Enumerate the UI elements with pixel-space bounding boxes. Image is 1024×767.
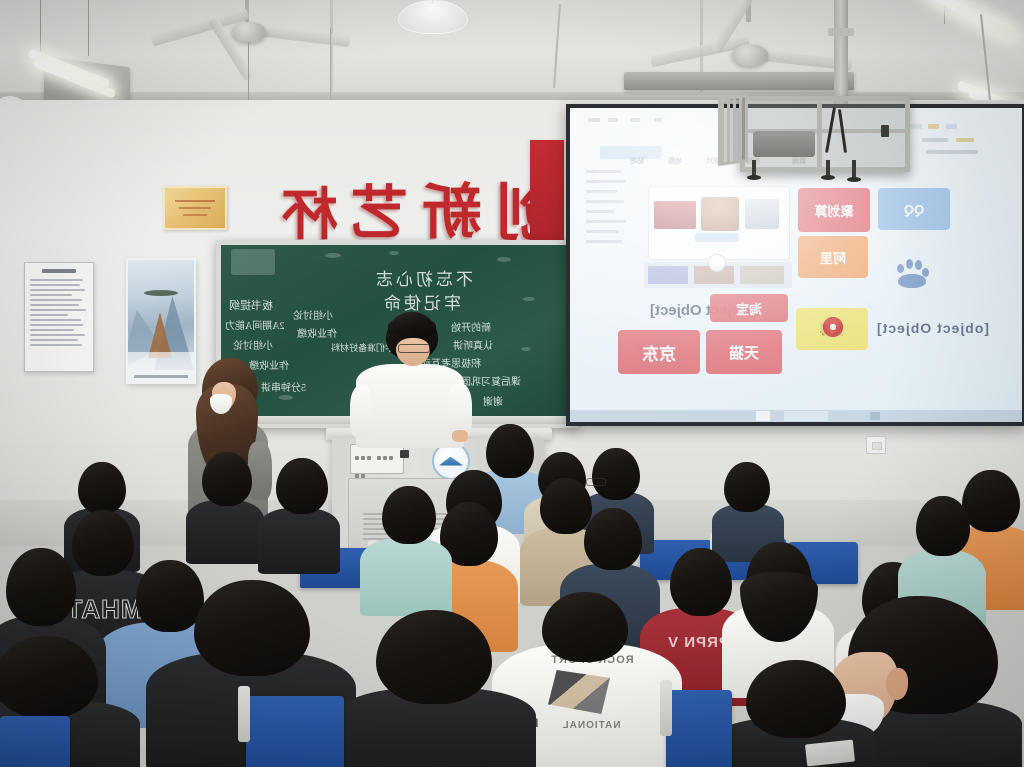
blackboard-note: 作业收缴 — [297, 325, 337, 340]
light-wire — [88, 0, 89, 56]
media-carousel — [648, 186, 790, 260]
projector-foot — [826, 160, 830, 176]
cage-side-panel — [718, 94, 748, 166]
carousel-caption — [695, 233, 739, 242]
carousel-thumb — [654, 201, 696, 229]
wall-slogan: 杯 艺 新 创 — [282, 162, 562, 236]
seat-armrest — [660, 680, 672, 736]
carousel-thumb — [745, 199, 779, 229]
blackboard-note: 小组讨论 — [233, 337, 273, 352]
brand-word-youku: [object Object] — [876, 320, 989, 336]
blackboard-headline: 不忘初心志 — [373, 265, 473, 290]
wall-light-switch[interactable] — [866, 436, 886, 454]
student-presenter — [352, 312, 472, 444]
blackboard-note: 小组讨论 — [293, 307, 333, 322]
presenter-fringe — [388, 316, 436, 338]
brand-tile-alibaba: 阿里 — [798, 236, 868, 278]
audience-member — [360, 486, 452, 616]
audience-member — [186, 452, 264, 564]
ceiling-wire — [330, 28, 331, 100]
classroom-photo: 杯 艺 新 创 不忘初心志 牢记使 — [0, 0, 1024, 767]
hanging-light-bar — [624, 72, 854, 90]
brand-tile-jd: 京东 — [618, 330, 700, 374]
lecture-seat[interactable] — [0, 716, 70, 767]
brand-tile-tmall: 天猫 — [706, 330, 782, 374]
pendant-lamp — [398, 0, 468, 34]
projector-protective-cage — [740, 96, 910, 172]
carousel-thumb — [701, 197, 739, 231]
blackboard-headline: 牢记使命 — [381, 289, 461, 314]
blackboard-note: 板书提纲 — [229, 297, 273, 313]
seat-armrest — [238, 686, 250, 742]
presenter-hand — [452, 430, 468, 442]
ceiling-fan — [232, 22, 266, 42]
audience-member — [336, 610, 536, 767]
projector-mount-pole — [834, 0, 848, 104]
painting-tree — [144, 290, 178, 296]
painting-caption — [134, 375, 188, 378]
audience-member — [258, 458, 340, 574]
lecture-seat[interactable] — [246, 696, 344, 767]
slogan-char-3: 新 — [422, 164, 482, 251]
projector-mount-bracket — [828, 28, 854, 36]
brand-tile-juhuasuan: 聚划算 — [798, 188, 870, 232]
blackboard-note: 谢谢 — [483, 393, 503, 408]
panel-indicator — [400, 450, 409, 458]
glasses-icon — [398, 344, 430, 353]
weibo-eye-icon — [820, 316, 846, 338]
nav-item: 地图 — [668, 156, 682, 166]
nav-item: 贴吧 — [630, 156, 644, 166]
award-certificate — [163, 186, 227, 230]
projector-foot — [752, 160, 756, 176]
sidebar-panel — [586, 170, 630, 280]
fan-wire — [248, 42, 249, 102]
projector-body — [753, 131, 815, 157]
projector-foot — [852, 160, 856, 178]
baidu-paw-icon — [892, 252, 932, 288]
cage-latch — [881, 125, 889, 137]
blackboard-note: 2A期间A能力 — [225, 317, 284, 332]
av-control-panel[interactable] — [350, 444, 404, 474]
ceiling-fan — [732, 44, 768, 66]
slogan-char-1: 杯 — [282, 170, 338, 251]
brand-tile-taobao: 淘宝 — [710, 294, 788, 322]
desktop-taskbar — [570, 410, 1022, 422]
ear — [886, 668, 908, 700]
rules-poster — [24, 262, 94, 372]
slogan-char-2: 艺 — [350, 166, 408, 250]
carousel-play-icon — [708, 254, 726, 272]
brand-tile-qq: QQ — [878, 188, 950, 230]
presenter-arm — [350, 386, 372, 438]
lecture-seat[interactable] — [666, 690, 732, 767]
shirt-print-text: NATIONAL — [526, 720, 656, 731]
poster-title-bar — [42, 269, 77, 273]
